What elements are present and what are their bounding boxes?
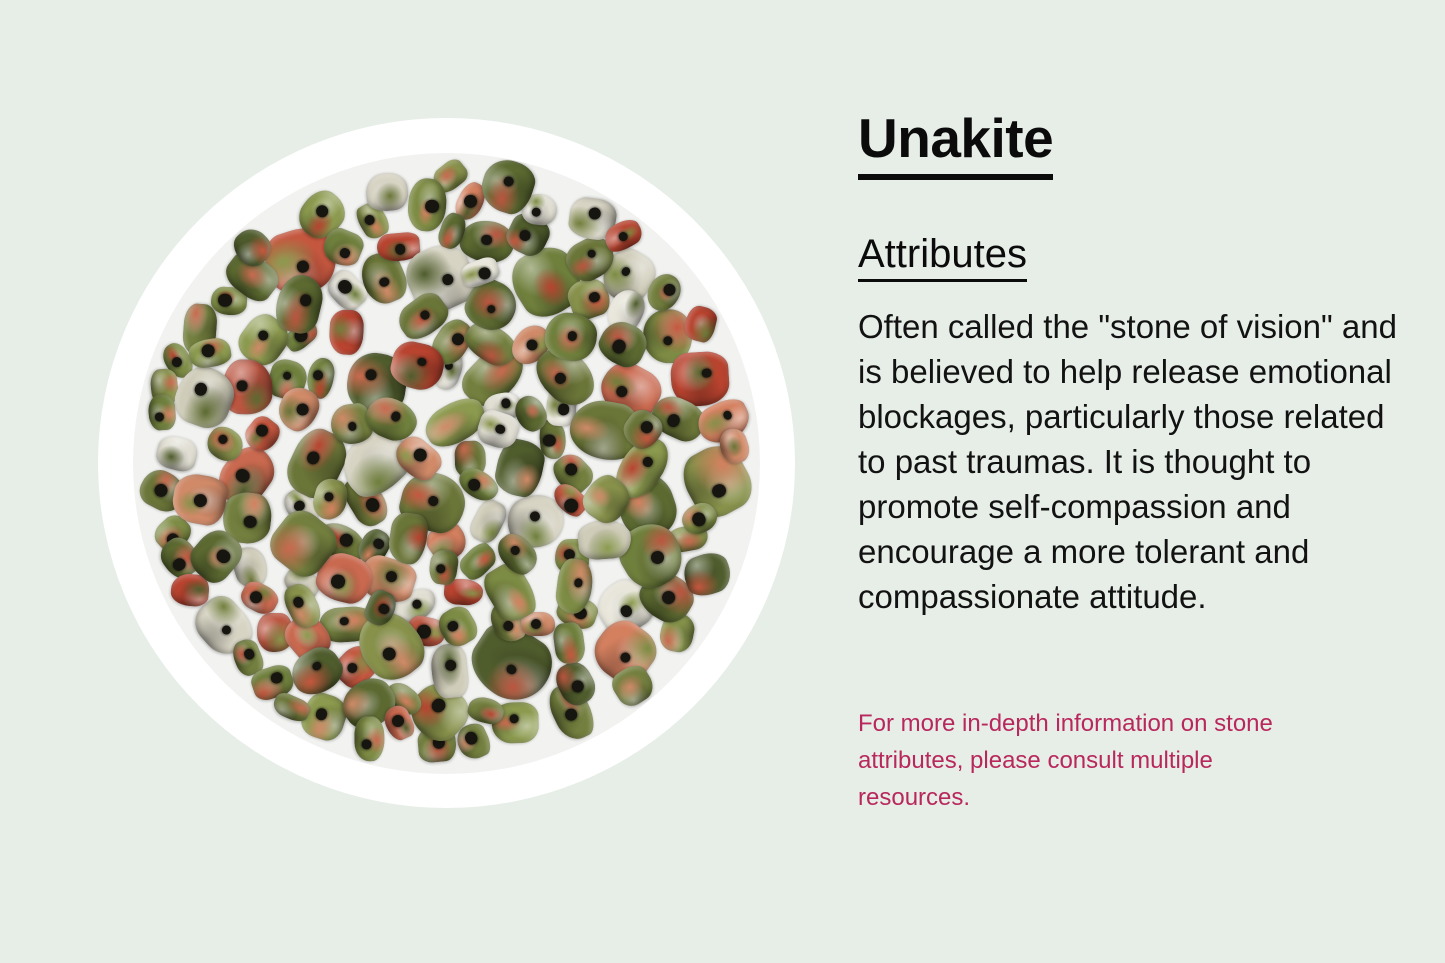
bead	[354, 716, 385, 762]
bead-drill-hole	[269, 671, 284, 686]
bead-drill-hole	[254, 422, 271, 439]
bead-drill-hole	[315, 707, 330, 722]
bead-drill-hole	[427, 495, 439, 507]
bead-drill-hole	[641, 455, 654, 468]
bead-drill-hole	[217, 433, 229, 445]
bead-drill-hole	[461, 193, 479, 211]
bead-drill-hole	[305, 449, 322, 466]
bead-drill-hole	[664, 336, 673, 345]
bead-drill-hole	[347, 421, 357, 431]
bead-drill-hole	[531, 206, 541, 216]
bead-drill-hole	[192, 381, 208, 397]
bead-drill-hole	[435, 564, 445, 574]
bead-drill-hole	[417, 357, 427, 367]
bead-drill-hole	[364, 368, 377, 381]
bead-drill-hole	[378, 276, 391, 289]
bead-drill-hole	[563, 461, 580, 478]
bead-drill-hole	[495, 424, 507, 436]
bead-drill-hole	[248, 589, 264, 605]
bead-drill-hole	[649, 549, 667, 567]
bead-drill-hole	[192, 492, 208, 508]
bead-drill-hole	[586, 249, 597, 260]
bead-drill-hole	[620, 265, 632, 277]
bead-drill-hole	[298, 293, 312, 307]
bead-drill-hole	[336, 278, 355, 297]
bead-drill-hole	[361, 739, 371, 749]
bead-drill-hole	[532, 620, 542, 630]
bead-drill-hole	[385, 569, 399, 583]
text-column: Unakite Attributes Often called the "sto…	[858, 110, 1403, 816]
bead-drill-hole	[313, 369, 325, 381]
bead-drill-hole	[463, 730, 479, 746]
bead-drill-hole	[567, 331, 577, 341]
bead-drill-hole	[611, 338, 628, 355]
bead	[364, 171, 410, 213]
bead-drill-hole	[338, 532, 355, 549]
section-heading-attributes: Attributes	[858, 232, 1027, 282]
bead-drill-hole	[569, 678, 585, 694]
stone-info-card: Unakite Attributes Often called the "sto…	[0, 0, 1445, 963]
bead-drill-hole	[440, 273, 454, 287]
bead-drill-hole	[690, 510, 708, 528]
bead-drill-hole	[561, 496, 581, 516]
bead-drill-hole	[419, 309, 431, 321]
bead	[576, 518, 632, 561]
bead-drill-hole	[323, 492, 334, 503]
disclaimer-footnote: For more in-depth information on stone a…	[858, 705, 1328, 816]
bead-drill-hole	[363, 213, 377, 227]
bead-drill-hole	[345, 661, 359, 675]
bead-drill-hole	[638, 418, 655, 435]
bead	[153, 433, 199, 474]
bead-drill-hole	[330, 573, 346, 589]
bead-drill-hole	[617, 231, 629, 243]
bead-drill-hole	[588, 291, 601, 304]
bead-drill-hole	[244, 515, 257, 528]
bead-drill-hole	[155, 412, 164, 421]
bead-drill-hole	[377, 602, 391, 616]
bead-drill-hole	[395, 244, 406, 255]
stone-image	[98, 118, 795, 808]
bead	[148, 393, 177, 431]
bead-drill-hole	[543, 433, 557, 447]
bead-drill-hole	[372, 536, 387, 551]
bead-drill-hole	[429, 696, 448, 715]
bead-drill-hole	[619, 651, 633, 665]
bead-drill-hole	[518, 229, 532, 243]
bead-drill-hole	[504, 662, 518, 676]
bead-drill-hole	[573, 578, 583, 588]
bead-field	[133, 153, 760, 774]
bead	[328, 308, 365, 355]
bead-drill-hole	[510, 714, 519, 723]
bead-drill-hole	[485, 303, 497, 315]
bead-drill-hole	[152, 482, 170, 500]
bead-drill-hole	[702, 369, 712, 379]
bead-drill-hole	[364, 496, 382, 514]
bead-drill-hole	[722, 410, 733, 421]
bead-drill-hole	[529, 511, 542, 524]
bead-drill-hole	[466, 477, 483, 494]
bead-drill-hole	[480, 234, 492, 246]
bead-drill-hole	[425, 200, 440, 215]
bead-drill-hole	[390, 713, 406, 729]
bead-drill-hole	[444, 660, 456, 672]
bead-drill-hole	[411, 446, 430, 465]
bead-drill-hole	[709, 481, 728, 500]
bead-drill-hole	[170, 556, 188, 574]
bead-drill-hole	[553, 371, 568, 386]
bead-drill-hole	[666, 412, 682, 428]
bead-drill-hole	[618, 603, 634, 619]
bead-drill-hole	[660, 588, 678, 606]
bead-drill-hole	[390, 410, 402, 422]
bead-drill-hole	[501, 619, 515, 633]
bead-drill-hole	[256, 329, 270, 343]
bead-drill-hole	[233, 466, 252, 485]
bead-drill-hole	[478, 266, 493, 281]
bead-drill-hole	[217, 293, 232, 308]
bead-drill-hole	[661, 281, 678, 298]
bead-drill-hole	[615, 384, 630, 399]
section-heading-wrap: Attributes	[858, 232, 1403, 282]
bead-drill-hole	[242, 648, 255, 661]
bead-drill-hole	[340, 617, 349, 626]
bead-drill-hole	[338, 247, 350, 259]
bead-drill-hole	[445, 619, 459, 633]
bead-drill-hole	[295, 259, 309, 273]
bead-drill-hole	[220, 624, 233, 637]
bead-drill-hole	[509, 544, 521, 556]
bead-drill-hole	[380, 644, 398, 662]
bead-drill-hole	[294, 401, 310, 417]
bead-drill-hole	[292, 595, 306, 609]
bead-drill-hole	[313, 203, 330, 220]
bead-drill-hole	[503, 176, 516, 189]
stone-image-circle	[98, 118, 795, 808]
bead-drill-hole	[200, 344, 215, 359]
bead-drill-hole	[588, 206, 601, 219]
bead-drill-hole	[282, 371, 292, 381]
bead-drill-hole	[170, 355, 184, 369]
page-title: Unakite	[858, 110, 1053, 180]
bead-drill-hole	[311, 660, 323, 672]
bead-drill-hole	[524, 337, 540, 353]
bead-drill-hole	[564, 707, 580, 723]
bead-drill-hole	[411, 598, 423, 610]
bead-drill-hole	[501, 398, 512, 409]
page-title-wrap: Unakite	[858, 110, 1403, 180]
bead-drill-hole	[214, 546, 233, 565]
attributes-body-text: Often called the "stone of vision" and i…	[858, 304, 1403, 619]
bead-drill-hole	[237, 380, 248, 391]
